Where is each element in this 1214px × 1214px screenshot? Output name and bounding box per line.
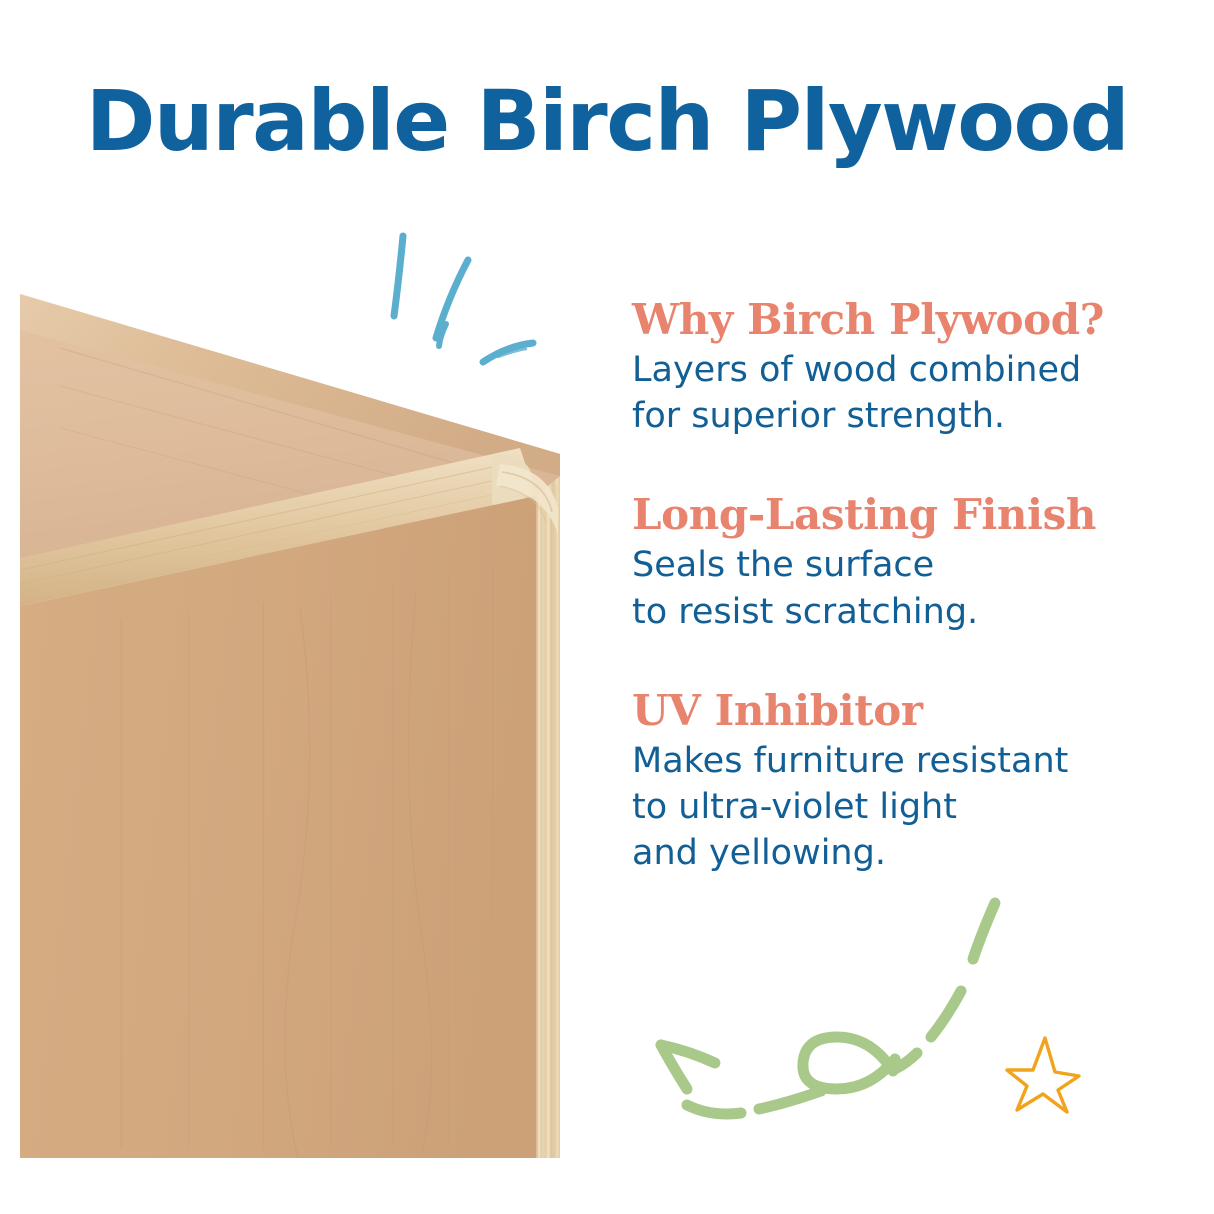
feature-heading: Why Birch Plywood? — [632, 296, 1152, 343]
infographic-canvas: Durable Birch Plywood — [0, 0, 1214, 1214]
feature-body-line: to resist scratching. — [632, 589, 1152, 635]
feature-list: Why Birch Plywood? Layers of wood combin… — [632, 296, 1152, 876]
sparkle-strokes-icon — [370, 232, 570, 382]
feature-body-line: Seals the surface — [632, 542, 1152, 588]
feature-body-line: to ultra-violet light — [632, 784, 1152, 830]
feature-block-why-birch-plywood: Why Birch Plywood? Layers of wood combin… — [632, 296, 1152, 439]
feature-body: Seals the surface to resist scratching. — [632, 542, 1152, 634]
feature-body: Makes furniture resistant to ultra-viole… — [632, 738, 1152, 877]
page-title: Durable Birch Plywood — [0, 72, 1214, 170]
feature-heading: UV Inhibitor — [632, 687, 1152, 734]
plywood-shelf-illustration — [0, 258, 600, 1183]
product-photo — [0, 258, 600, 1183]
feature-body: Layers of wood combined for superior str… — [632, 347, 1152, 439]
feature-body-line: and yellowing. — [632, 830, 1152, 876]
feature-body-line: Layers of wood combined — [632, 347, 1152, 393]
feature-body-line: Makes furniture resistant — [632, 738, 1152, 784]
feature-body-line: for superior strength. — [632, 393, 1152, 439]
curved-dashed-arrow-icon — [645, 895, 1065, 1125]
feature-block-uv-inhibitor: UV Inhibitor Makes furniture resistant t… — [632, 687, 1152, 877]
feature-heading: Long-Lasting Finish — [632, 491, 1152, 538]
star-outline-icon — [1003, 1032, 1083, 1114]
feature-block-long-lasting-finish: Long-Lasting Finish Seals the surface to… — [632, 491, 1152, 634]
